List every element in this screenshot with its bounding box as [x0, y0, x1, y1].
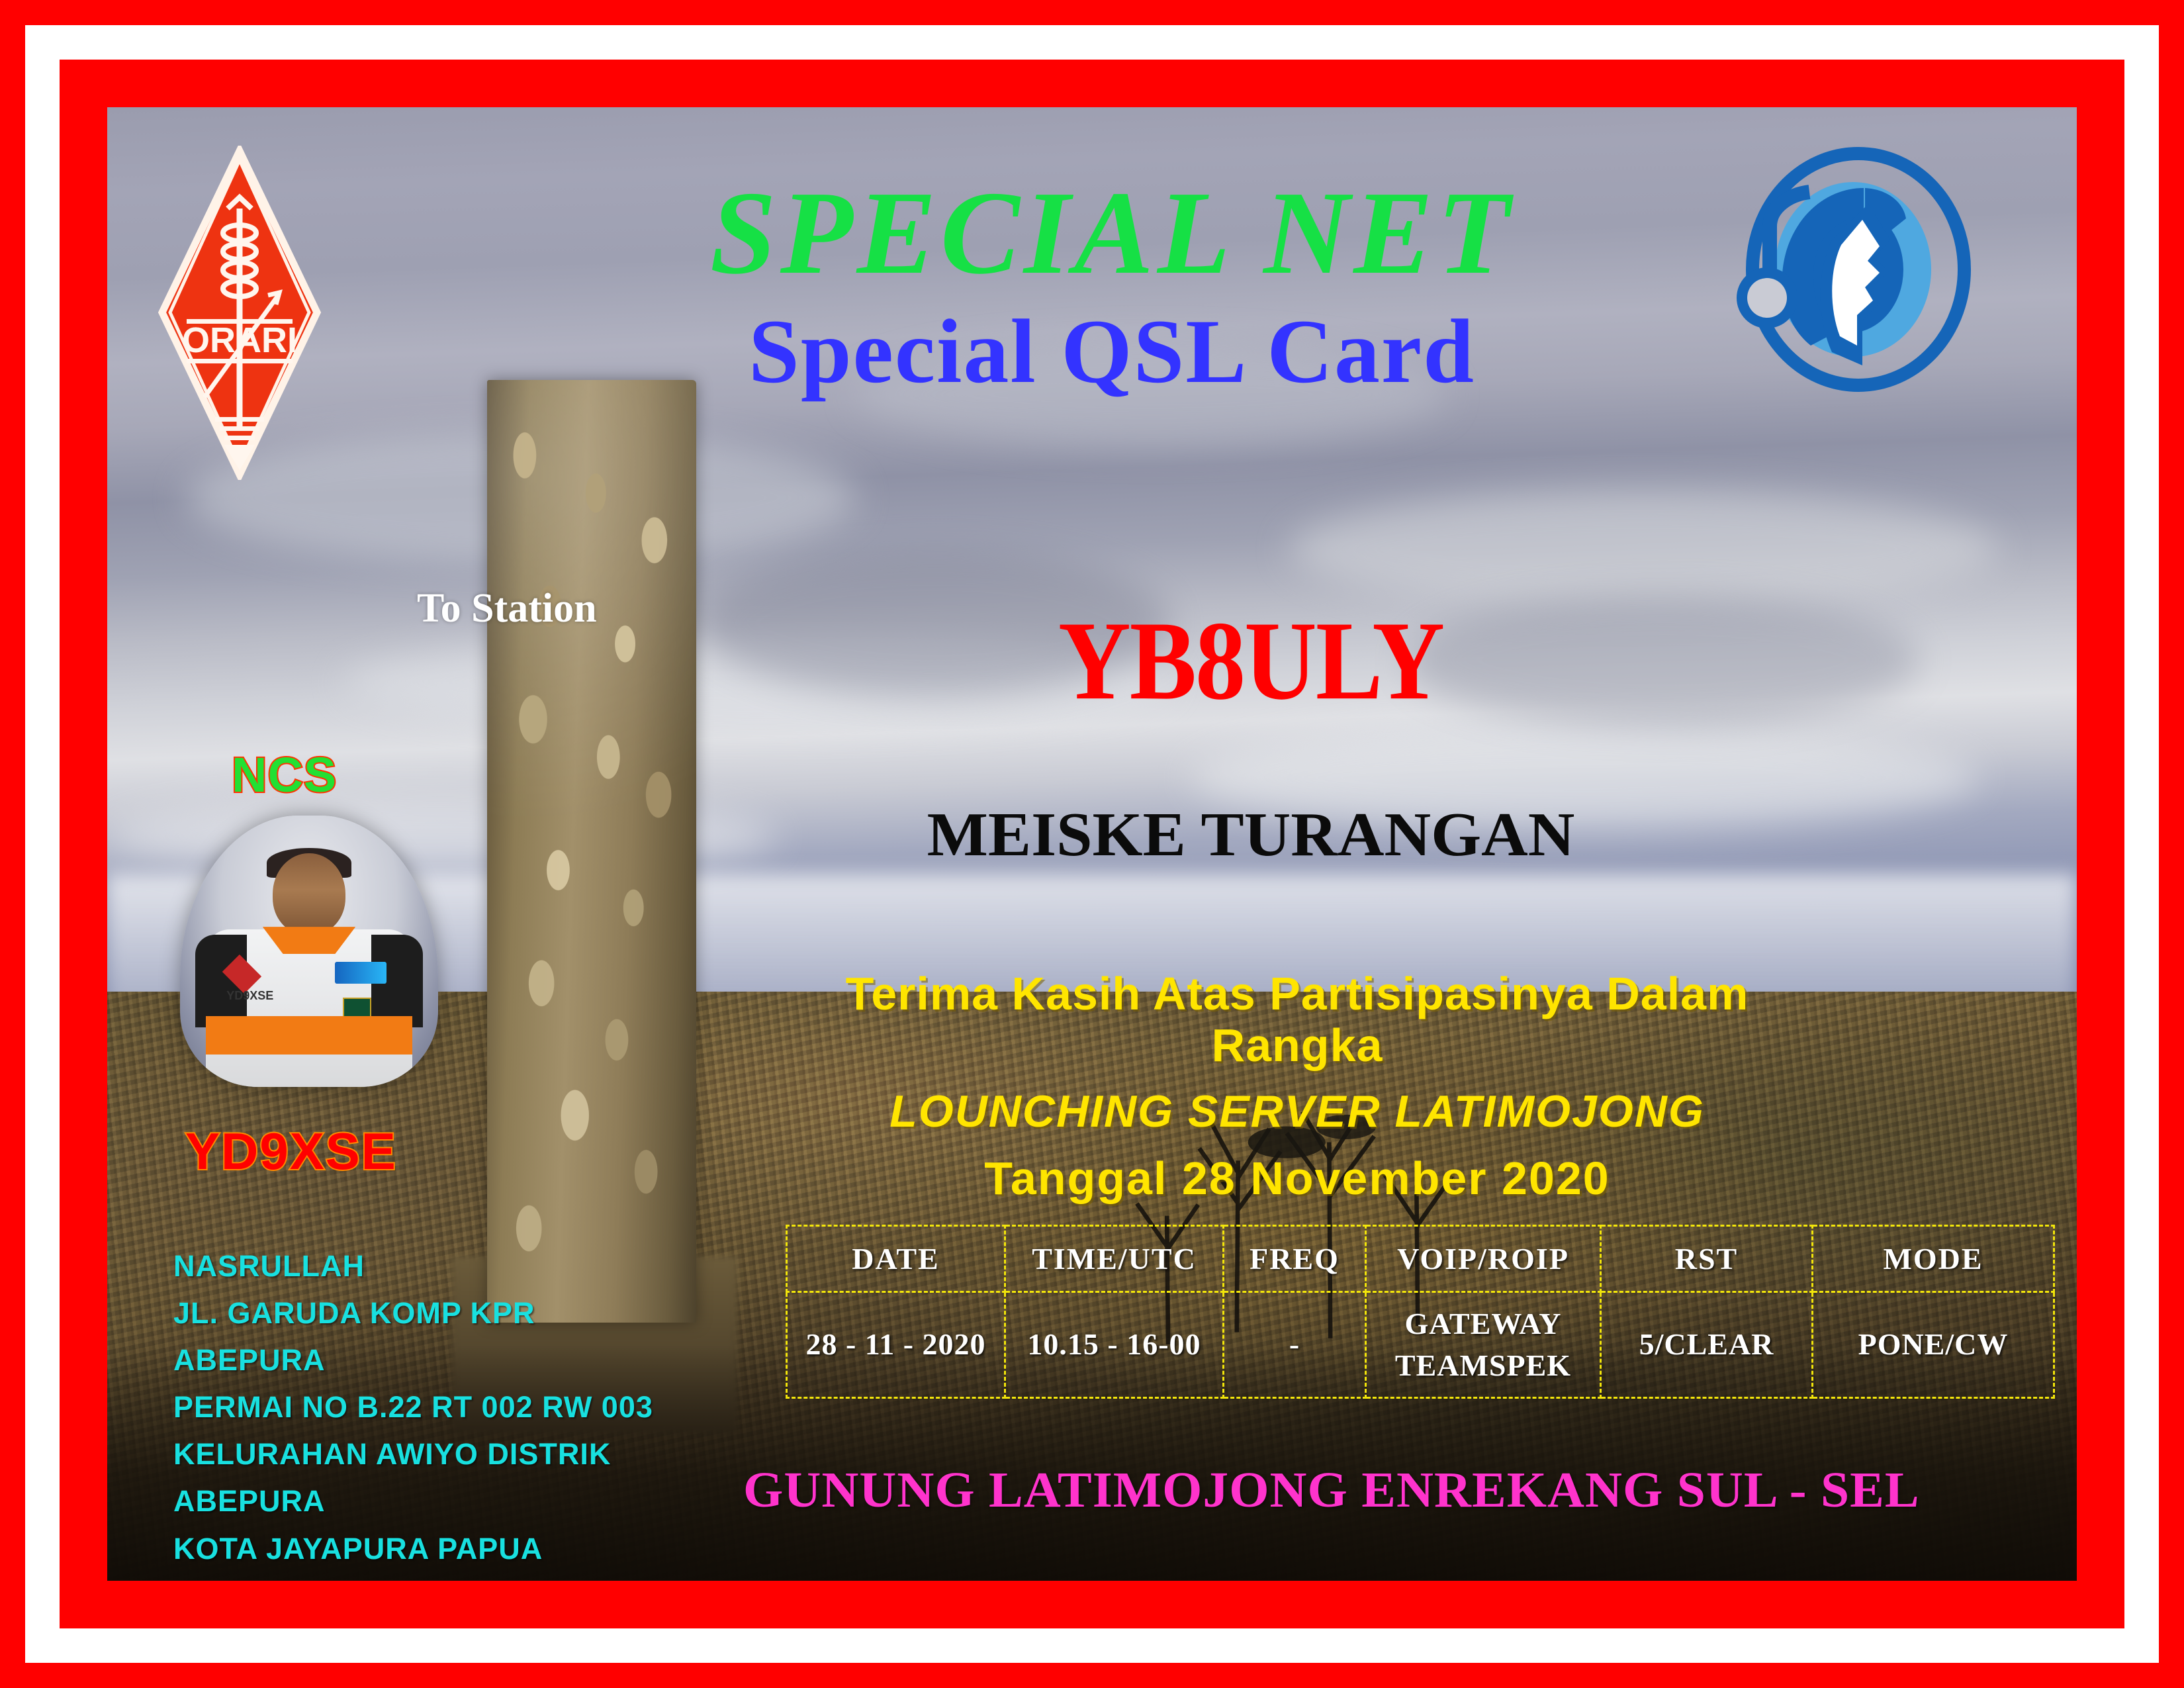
table-row: 28 - 11 - 2020 10.15 - 16-00 - GATEWAYTE…	[787, 1292, 2054, 1398]
qsl-card-inner-frame: ORARI	[60, 60, 2124, 1628]
avatar-callsign-text: YD9XSE	[226, 989, 273, 1003]
table-header-mode: MODE	[1813, 1226, 2054, 1292]
ncs-callsign: YD9XSE	[185, 1121, 397, 1182]
ncs-label: NCS	[232, 747, 337, 803]
address-line: NASRULLAH	[173, 1243, 743, 1289]
event-line-2: LOUNCHING SERVER LATIMOJONG	[835, 1086, 1759, 1137]
table-header-time: TIME/UTC	[1005, 1226, 1224, 1292]
cell-time: 10.15 - 16-00	[1005, 1292, 1224, 1398]
station-callsign: YB8ULY	[882, 604, 1620, 717]
avatar-face	[273, 853, 345, 935]
address-line: KELURAHAN AWIYO DISTRIK	[173, 1430, 743, 1477]
cell-rst: 5/CLEAR	[1601, 1292, 1813, 1398]
address-line: ABEPURA	[173, 1336, 743, 1383]
cell-date: 28 - 11 - 2020	[787, 1292, 1005, 1398]
event-line-1: Terima Kasih Atas Partisipasinya Dalam R…	[835, 968, 1759, 1072]
address-line: KOTA JAYAPURA PAPUA	[173, 1525, 743, 1572]
cell-mode: PONE/CW	[1813, 1292, 2054, 1398]
cell-freq: -	[1224, 1292, 1366, 1398]
event-line-3: Tanggal 28 November 2020	[835, 1152, 1759, 1204]
qsl-card-photo-background: ORARI	[107, 107, 2077, 1581]
table-header-freq: FREQ	[1224, 1226, 1366, 1292]
address-line: JL. GARUDA KOMP KPR	[173, 1289, 743, 1336]
table-header-row: DATE TIME/UTC FREQ VOIP/ROIP RST MODE	[787, 1226, 2054, 1292]
table-header-date: DATE	[787, 1226, 1005, 1292]
operator-name: MEISKE TURANGAN	[867, 804, 1635, 866]
cell-voip-roip: GATEWAYTEAMSPEK	[1366, 1292, 1601, 1398]
page-title: SPECIAL NET	[107, 173, 2077, 293]
qsl-card-outer-frame: ORARI	[0, 0, 2184, 1688]
to-station-label: To Station	[417, 585, 597, 632]
avatar-chest-badge	[335, 962, 387, 984]
event-message-block: Terima Kasih Atas Partisipasinya Dalam R…	[835, 968, 1759, 1204]
address-line: PERMAI NO B.22 RT 002 RW 003	[173, 1383, 743, 1430]
table-header-rst: RST	[1601, 1226, 1813, 1292]
location-caption: GUNUNG LATIMOJONG ENREKANG SUL - SEL	[743, 1462, 2026, 1519]
station-address-block: NASRULLAH JL. GARUDA KOMP KPR ABEPURA PE…	[173, 1243, 743, 1572]
qsl-card-white-gap: ORARI	[25, 25, 2159, 1663]
table-header-voip-roip: VOIP/ROIP	[1366, 1226, 1601, 1292]
qso-log-table: DATE TIME/UTC FREQ VOIP/ROIP RST MODE 28…	[786, 1225, 2055, 1399]
address-line: ABEPURA	[173, 1477, 743, 1524]
page-subtitle: Special QSL Card	[107, 306, 2077, 397]
ncs-operator-avatar: YD9XSE	[180, 816, 438, 1087]
avatar-sash	[206, 1016, 412, 1054]
